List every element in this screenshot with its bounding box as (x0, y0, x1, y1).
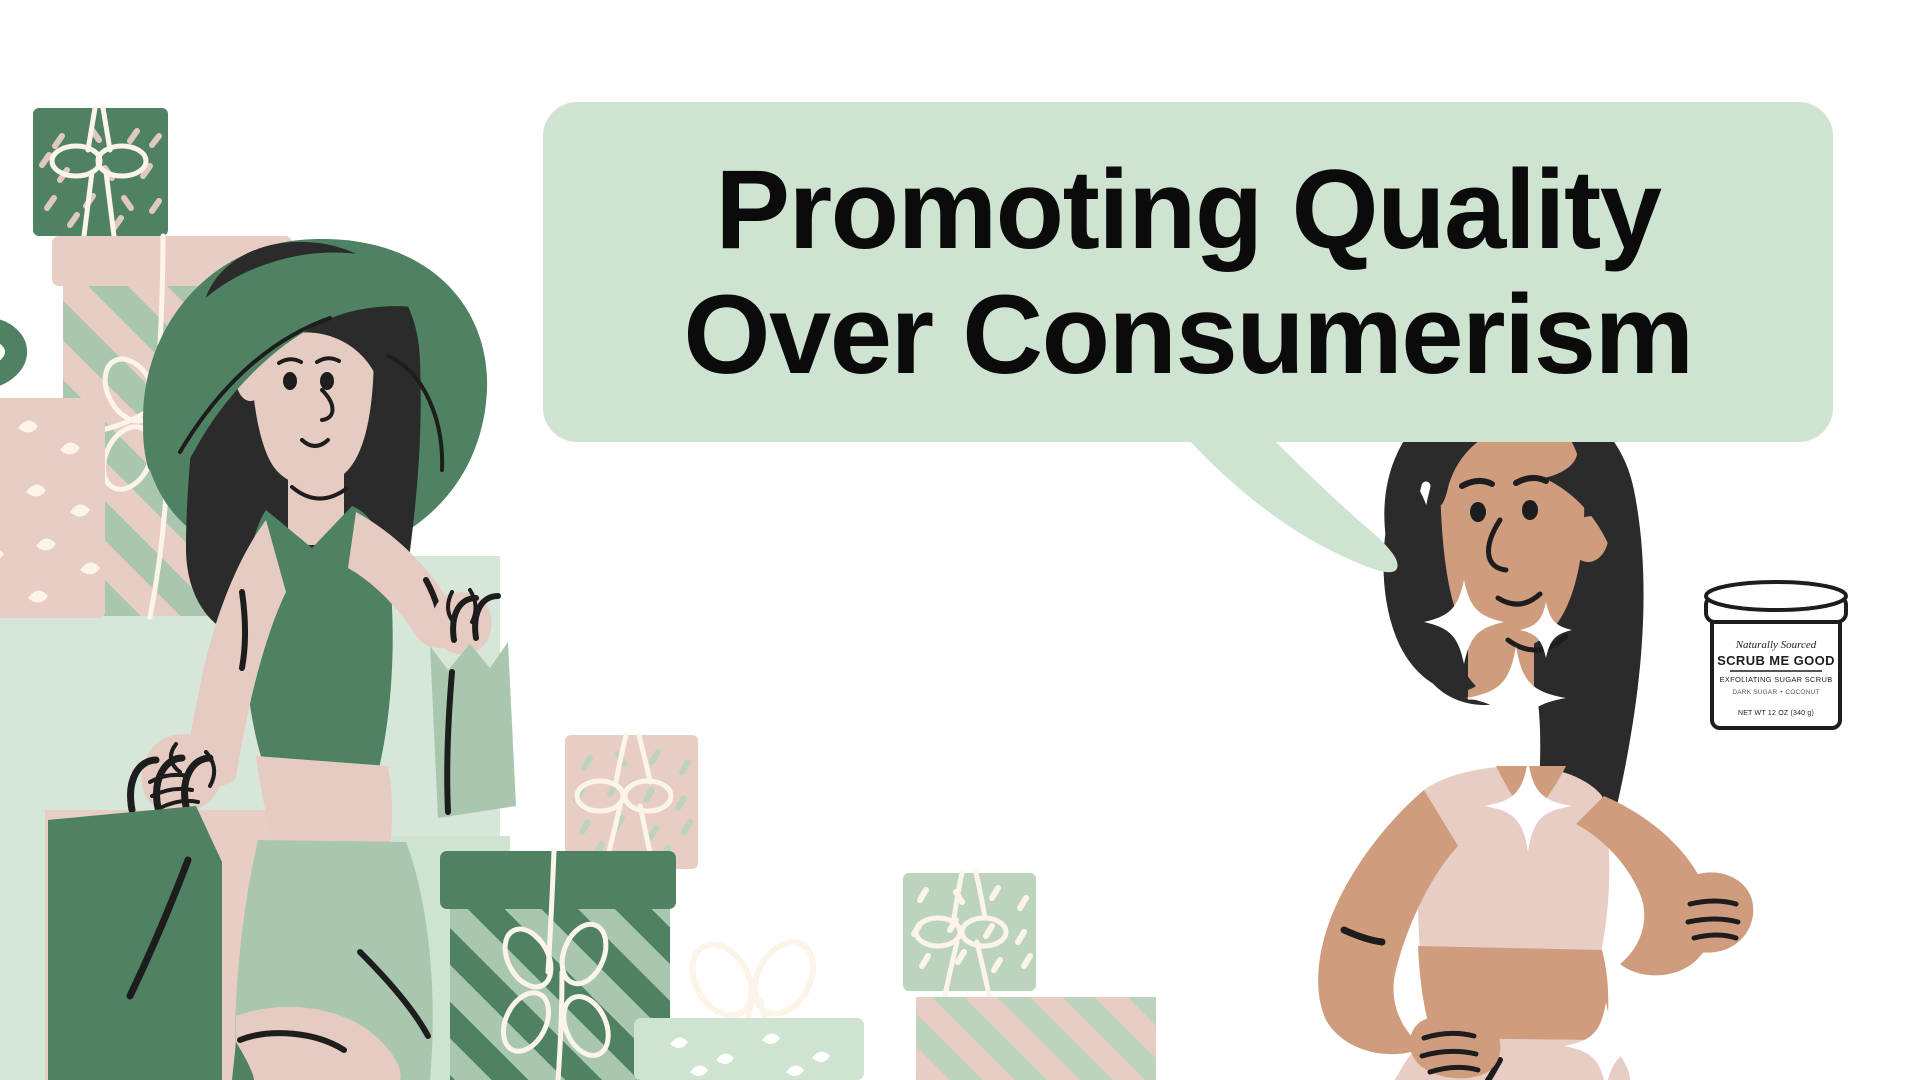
jar-brand-script: Naturally Sourced (1735, 639, 1817, 651)
gift-box-blush-dotted (0, 398, 105, 618)
eye-left (283, 372, 297, 390)
gift-box-mint-dotted (634, 1018, 864, 1080)
headline-text: Promoting Quality Over Consumerism (543, 147, 1833, 398)
arm-left-crease (242, 592, 245, 668)
jar-title: SCRUB ME GOOD (1717, 653, 1835, 668)
gift-box-green-lid (440, 851, 676, 909)
leaf-sprig (0, 328, 16, 377)
right-character-skincare: Naturally Sourced SCRUB ME GOOD EXFOLIAT… (1318, 388, 1846, 1080)
gift-stack-right (903, 873, 1156, 1080)
jar-lid-top (1706, 582, 1846, 610)
jar-subtitle: EXFOLIATING SUGAR SCRUB (1719, 675, 1832, 684)
eye-right (320, 372, 334, 390)
speech-bubble-tail (1180, 428, 1398, 572)
eye-right-right-char (1522, 500, 1538, 520)
slide-canvas: Naturally Sourced SCRUB ME GOOD EXFOLIAT… (0, 0, 1920, 1080)
midriff (256, 756, 392, 846)
gift-box-top-dark-green (33, 108, 168, 236)
eye-left-right-char (1470, 502, 1486, 522)
hand-holding-jar (1663, 872, 1753, 952)
gift-box-blush-striped (916, 997, 1156, 1080)
speech-bubble: Promoting Quality Over Consumerism (543, 102, 1833, 442)
jar-net-weight: NET WT 12 OZ (340 g) (1738, 710, 1814, 717)
scrub-jar: Naturally Sourced SCRUB ME GOOD EXFOLIAT… (1706, 582, 1846, 728)
jar-variant: DARK SUGAR + COCONUT (1732, 689, 1819, 696)
gift-box-sage-confetti (903, 873, 1036, 1000)
